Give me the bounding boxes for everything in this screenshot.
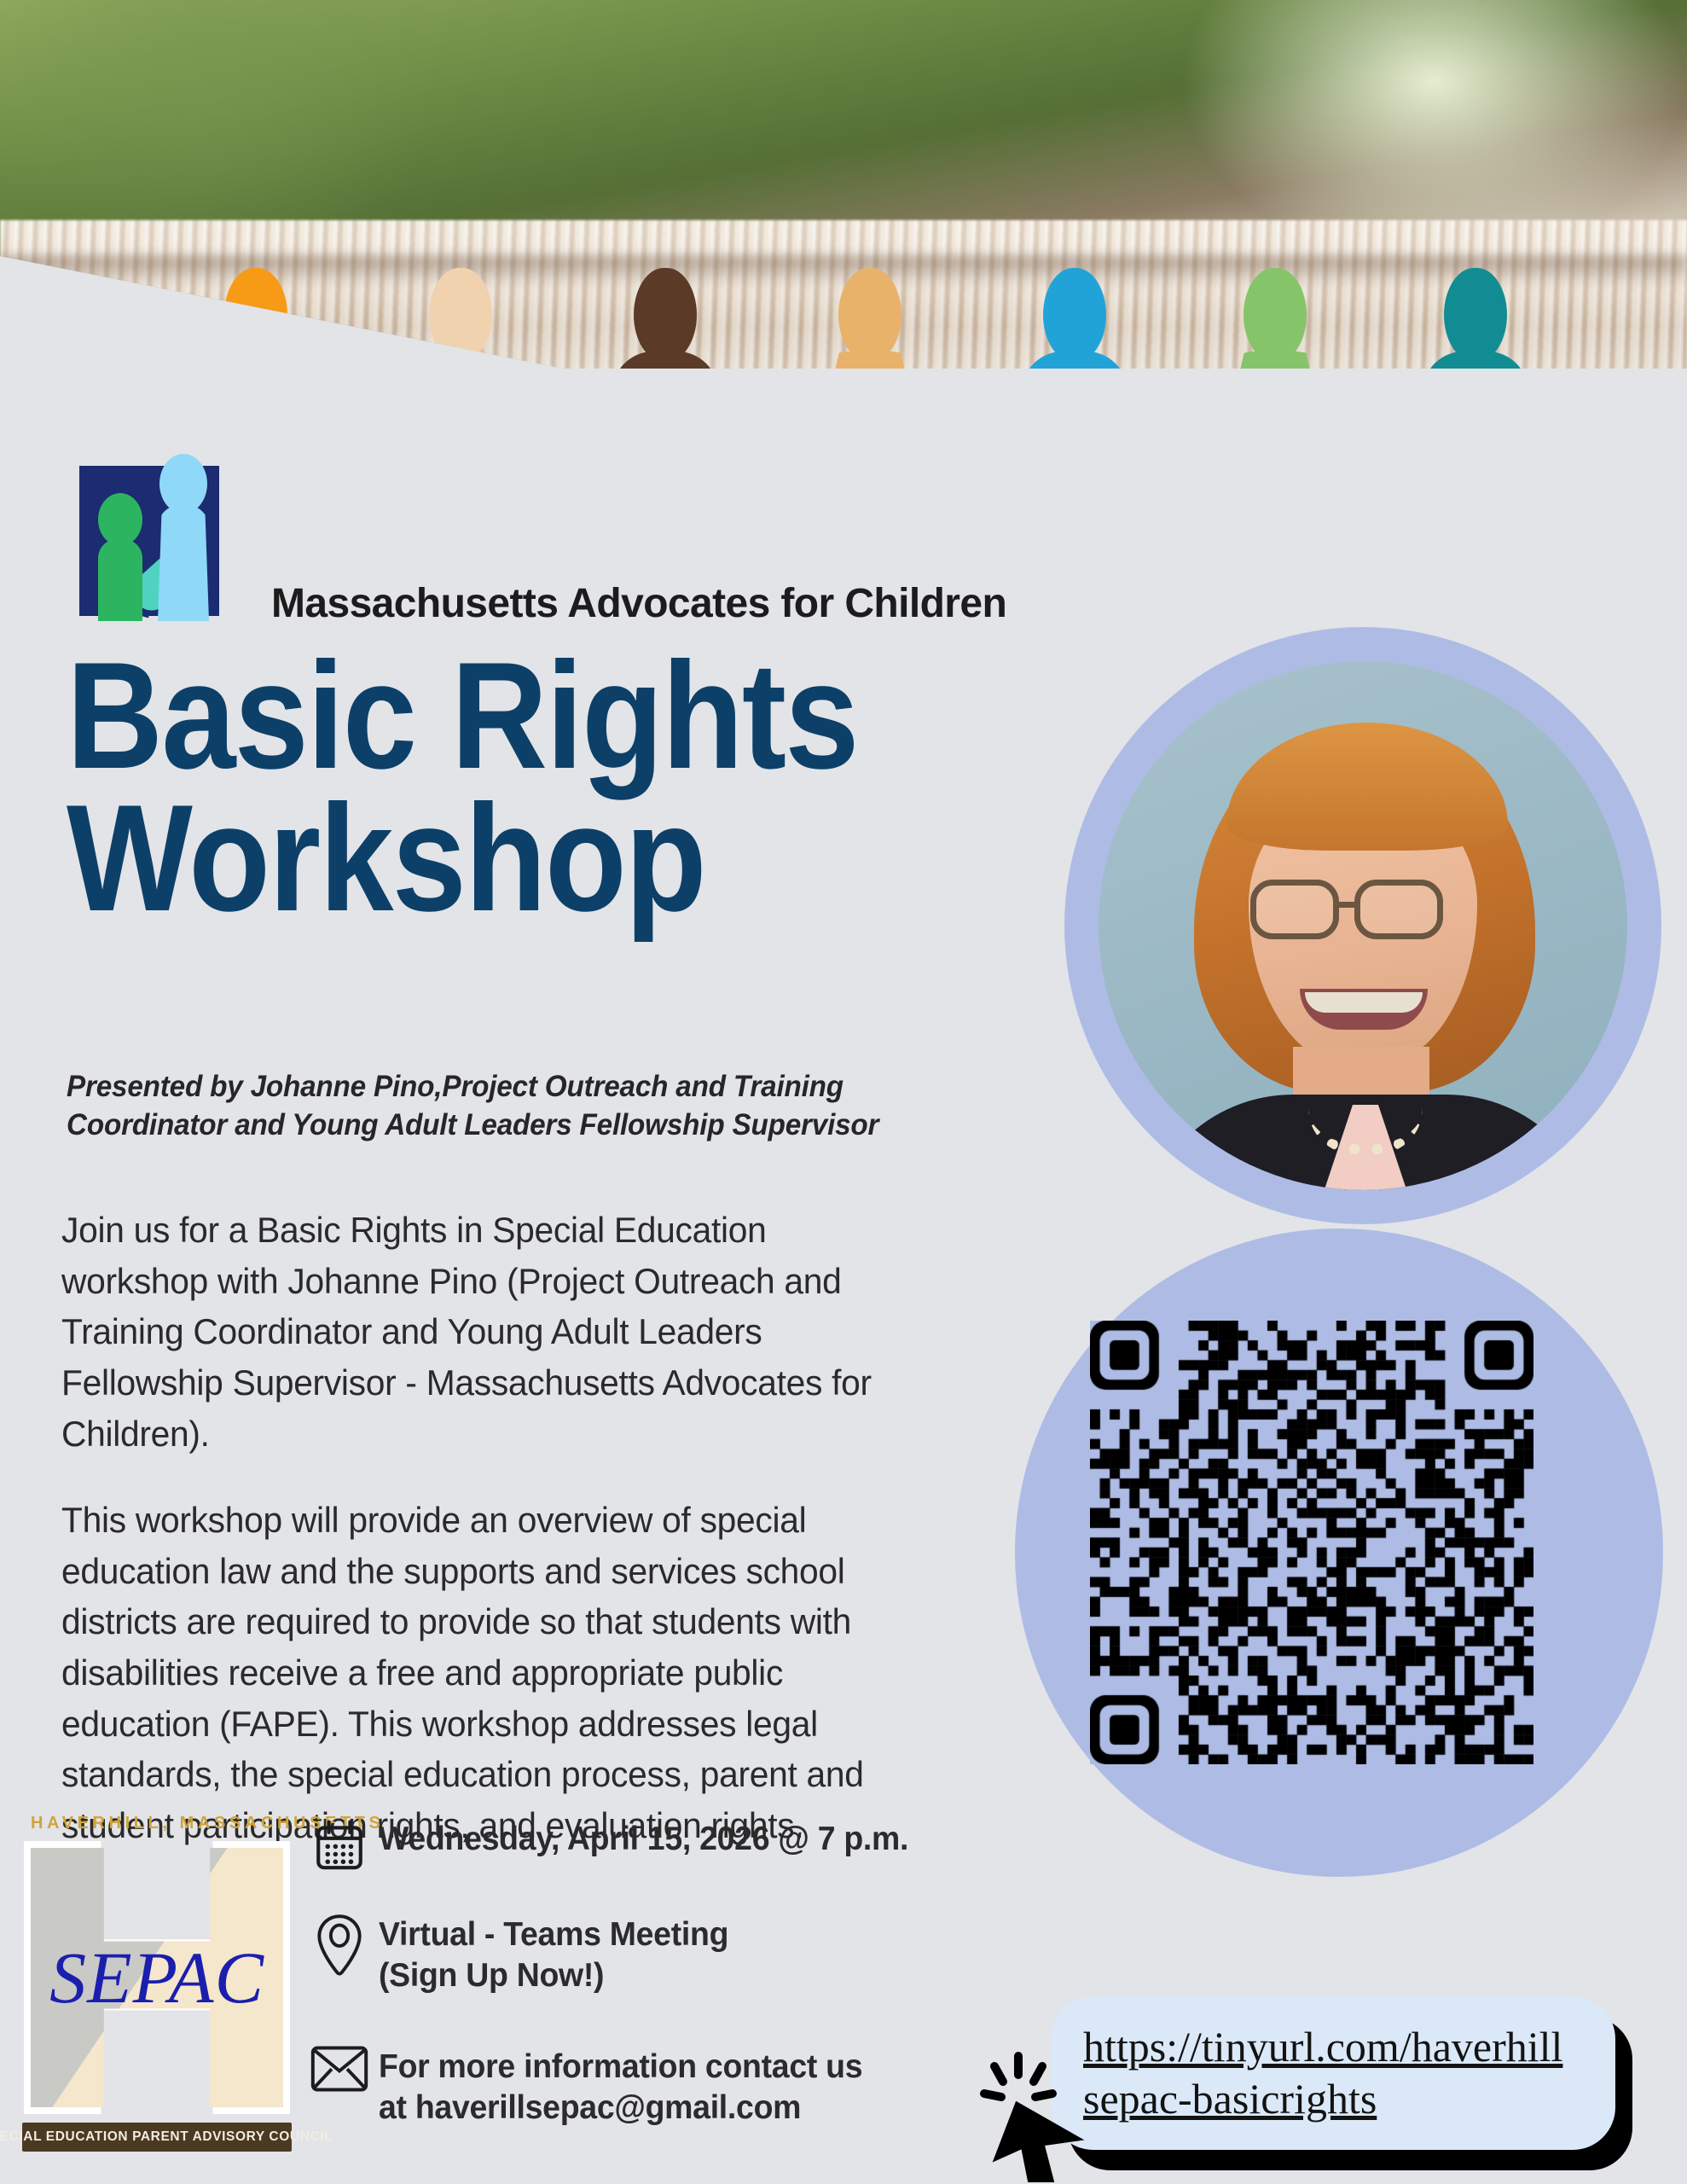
detail-contact-text: For more information contact us at haver… [379,2043,862,2128]
detail-location: Virtual - Teams Meeting (Sign Up Now!) [300,1911,1068,1995]
haverhill-sepac-logo: HAVERHILL, MASSACHUSETTS SEPAC SPECIAL E… [15,1814,297,2172]
detail-date-line-1: Wednesday, April 15, 2026 @ 7 p.m. [379,1819,908,1860]
sepac-location-text: HAVERHILL, MASSACHUSETTS [31,1814,287,1833]
flyer-page: Massachusetts Advocates for Children Bas… [0,0,1687,2184]
description-paragraph-2: This workshop will provide an overview o… [61,1495,922,1850]
detail-location-text: Virtual - Teams Meeting (Sign Up Now!) [379,1911,728,1995]
detail-date: Wednesday, April 15, 2026 @ 7 p.m. [300,1815,1068,1873]
eyeglasses-icon [1250,880,1339,939]
description-paragraph-1: Join us for a Basic Rights in Special Ed… [61,1205,922,1459]
event-details: Wednesday, April 15, 2026 @ 7 p.m. Virtu… [300,1815,1068,2165]
detail-contact: For more information contact us at haver… [300,2043,1068,2128]
presenter-credit: Presented by Johanne Pino,Project Outrea… [67,1068,990,1145]
presenter-photo [1064,627,1661,1224]
registration-url-callout[interactable]: https://tinyurl.com/haverhill sepac-basi… [1051,1996,1615,2150]
banner-photo [0,0,1687,409]
title-line-1: Basic Rights [67,644,892,787]
paper-doll-figures [0,0,1687,375]
cursor-click-icon [957,2046,1085,2182]
organization-name: Massachusetts Advocates for Children [271,580,1006,627]
sepac-tagline: SPECIAL EDUCATION PARENT ADVISORY COUNCI… [22,2123,292,2152]
sepac-wordmark: SEPAC [20,1935,293,2020]
qr-code[interactable] [1090,1321,1533,1764]
calendar-icon [300,1815,379,1873]
location-pin-icon [300,1911,379,1979]
detail-contact-line-1: For more information contact us [379,2047,862,2088]
title-line-2: Workshop [67,787,892,929]
detail-location-line-2: (Sign Up Now!) [379,1955,728,1996]
detail-date-text: Wednesday, April 15, 2026 @ 7 p.m. [379,1815,908,1860]
registration-url-line-1[interactable]: https://tinyurl.com/haverhill [1083,2021,1583,2073]
description: Join us for a Basic Rights in Special Ed… [61,1205,948,1887]
page-title: Basic Rights Workshop [67,644,892,930]
detail-location-line-1: Virtual - Teams Meeting [379,1914,728,1955]
detail-contact-line-2: at haverillsepac@gmail.com [379,2088,862,2129]
envelope-icon [300,2043,379,2093]
massachusetts-advocates-for-children-logo [67,454,238,616]
registration-url-line-2[interactable]: sepac-basicrights [1083,2073,1583,2125]
